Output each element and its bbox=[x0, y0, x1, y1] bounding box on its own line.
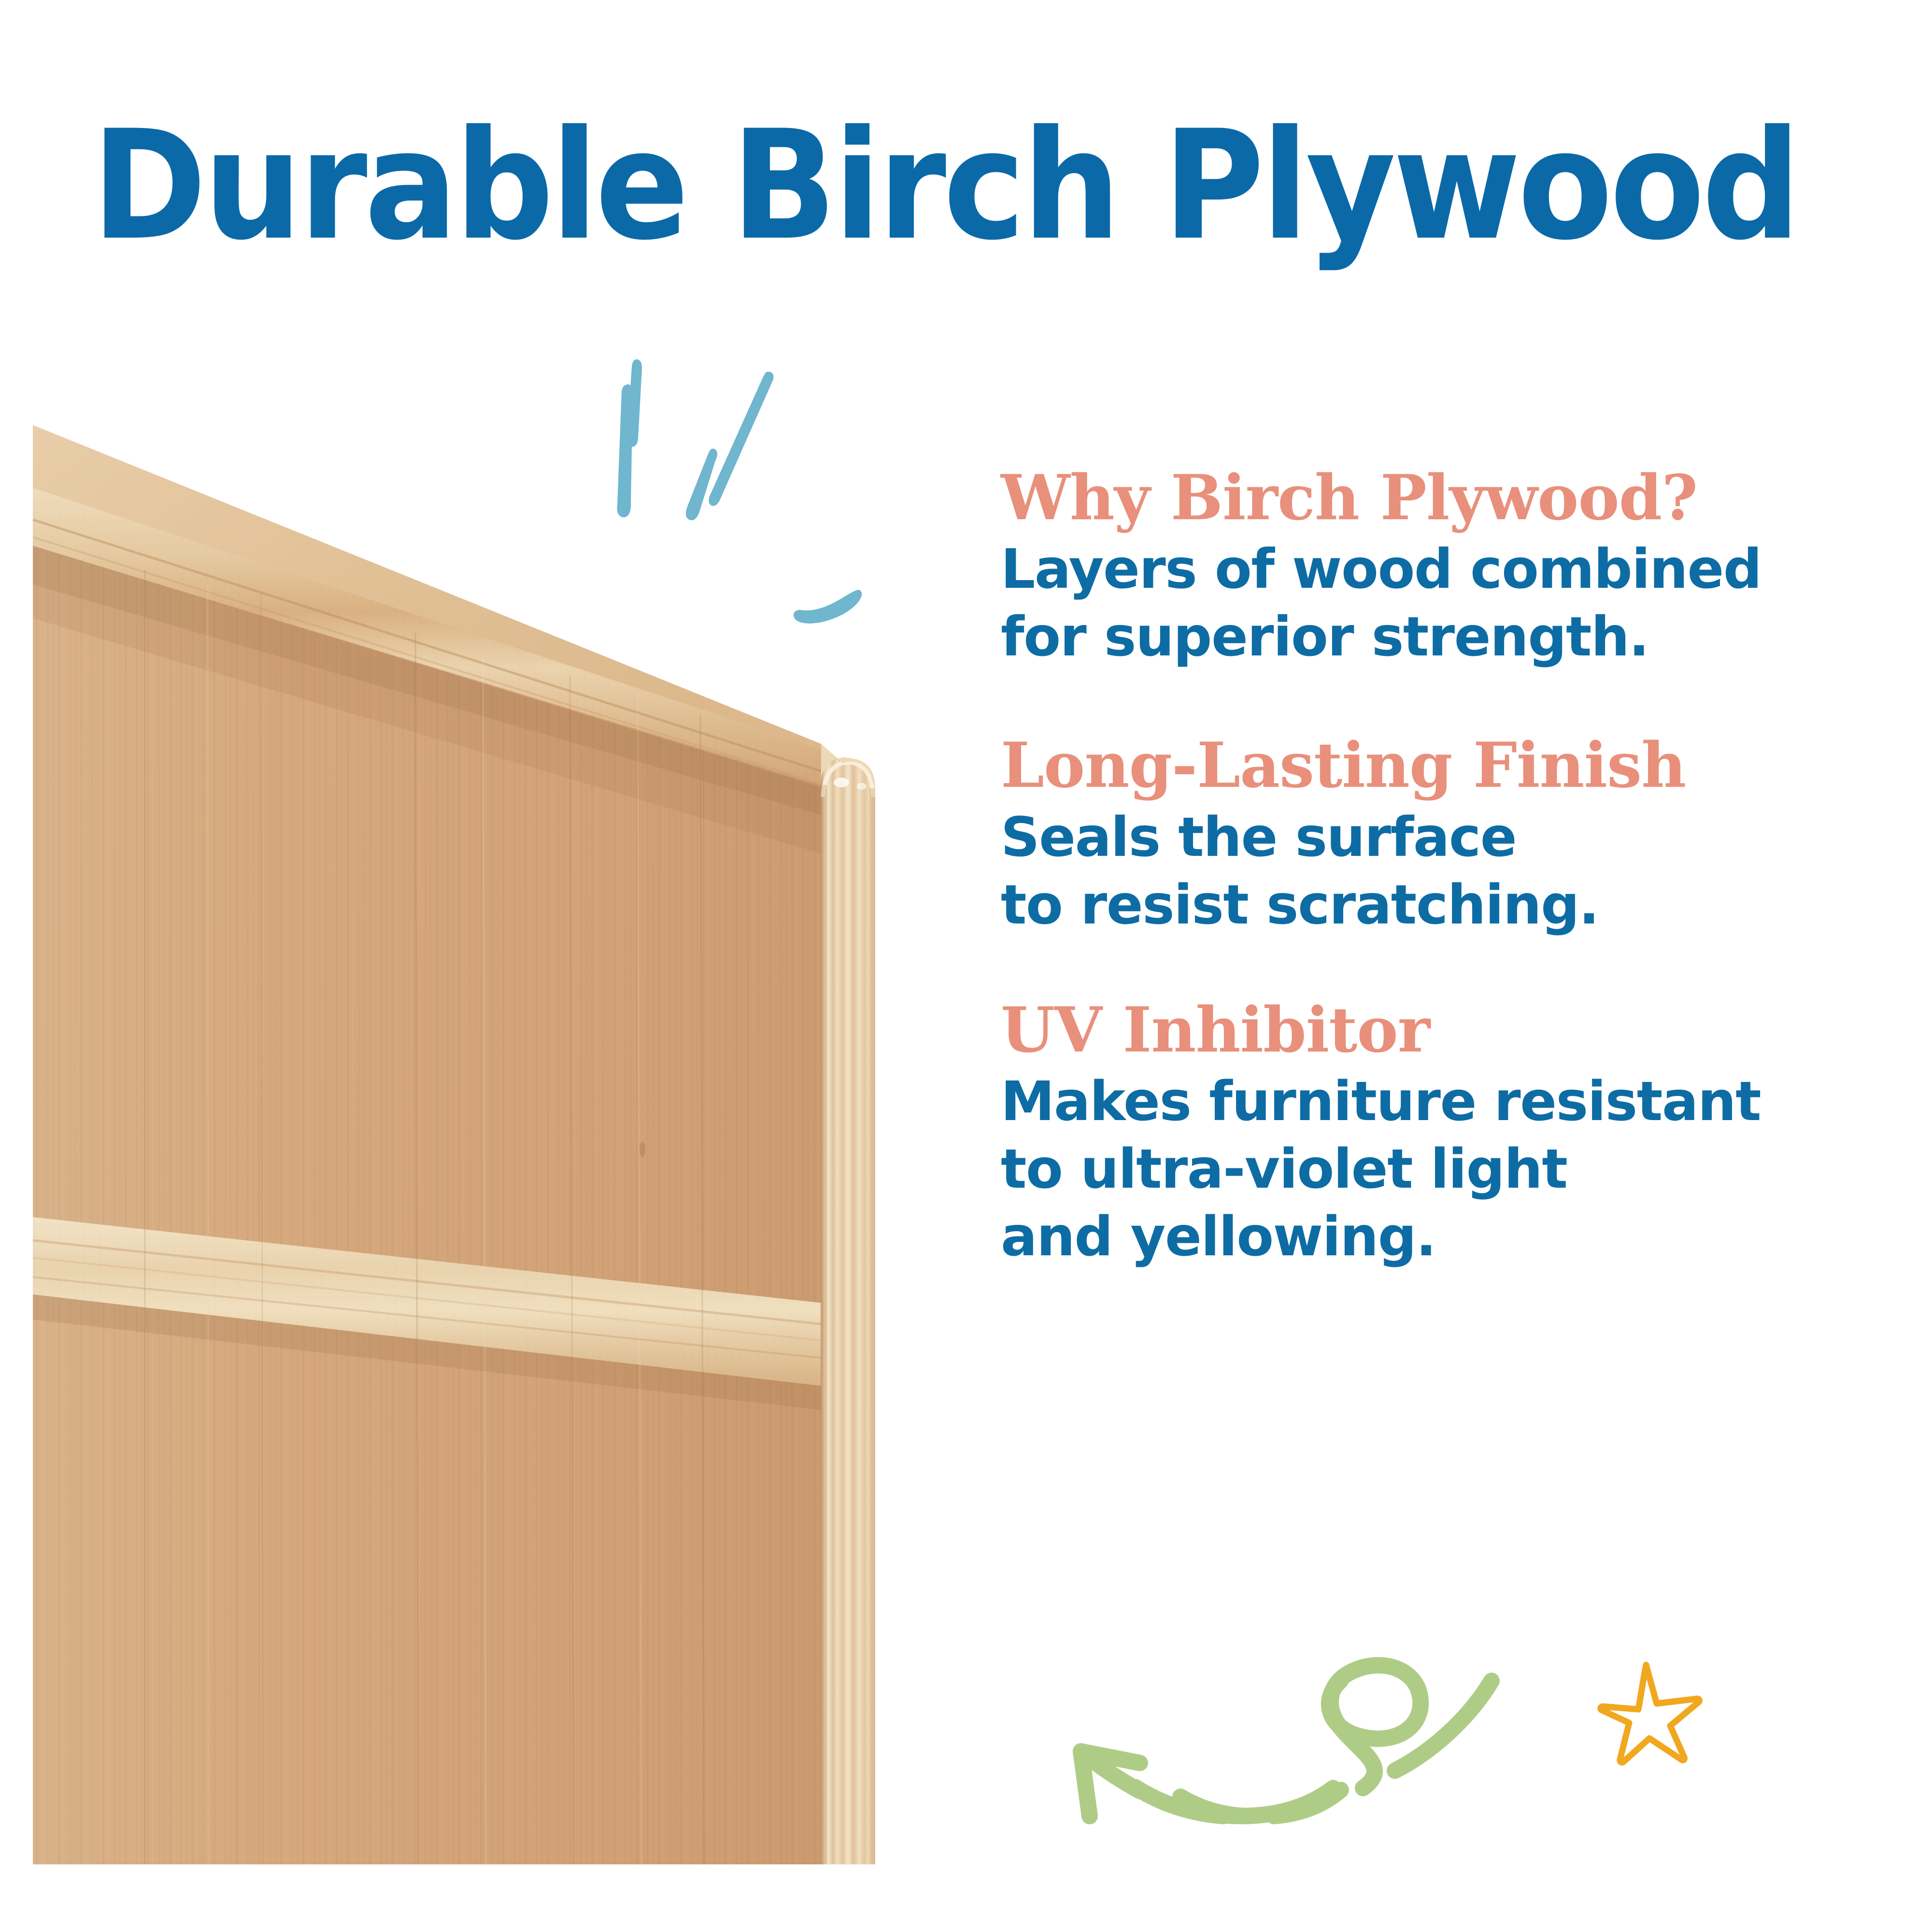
feature-body-line: and yellowing. bbox=[1001, 1203, 1870, 1271]
feature-body-2: Seals the surface to resist scratching. bbox=[1001, 804, 1870, 939]
infographic-canvas: Durable Birch Plywood bbox=[0, 0, 1932, 1932]
feature-body-3: Makes furniture resistant to ultra-viole… bbox=[1001, 1068, 1870, 1271]
feature-body-line: to resist scratching. bbox=[1001, 871, 1870, 939]
feature-body-line: Seals the surface bbox=[1001, 804, 1870, 871]
amber-star-svg bbox=[1565, 1620, 1724, 1780]
feature-heading-1: Why Birch Plywood? bbox=[1001, 464, 1870, 533]
page-title: Durable Birch Plywood bbox=[92, 110, 1915, 261]
feature-block-3: UV Inhibitor Makes furniture resistant t… bbox=[1001, 939, 1870, 1271]
star-icon bbox=[1565, 1620, 1724, 1780]
curved-arrow-icon bbox=[995, 1430, 1512, 1831]
feature-body-1: Layers of wood combined for superior str… bbox=[1001, 536, 1870, 671]
feature-body-line: to ultra-violet light bbox=[1001, 1136, 1870, 1203]
feature-block-2: Long-Lasting Finish Seals the surface to… bbox=[1001, 671, 1870, 938]
green-arrow-svg bbox=[995, 1430, 1512, 1831]
feature-block-1: Why Birch Plywood? Layers of wood combin… bbox=[1001, 464, 1870, 671]
feature-heading-2: Long-Lasting Finish bbox=[1001, 731, 1870, 800]
product-photo bbox=[0, 425, 903, 1884]
feature-body-line: Layers of wood combined bbox=[1001, 536, 1870, 603]
plywood-illustration bbox=[0, 425, 903, 1884]
feature-heading-3: UV Inhibitor bbox=[1001, 996, 1870, 1065]
feature-list: Why Birch Plywood? Layers of wood combin… bbox=[1001, 464, 1870, 1271]
feature-body-line: Makes furniture resistant bbox=[1001, 1068, 1870, 1136]
feature-body-line: for superior strength. bbox=[1001, 603, 1870, 671]
